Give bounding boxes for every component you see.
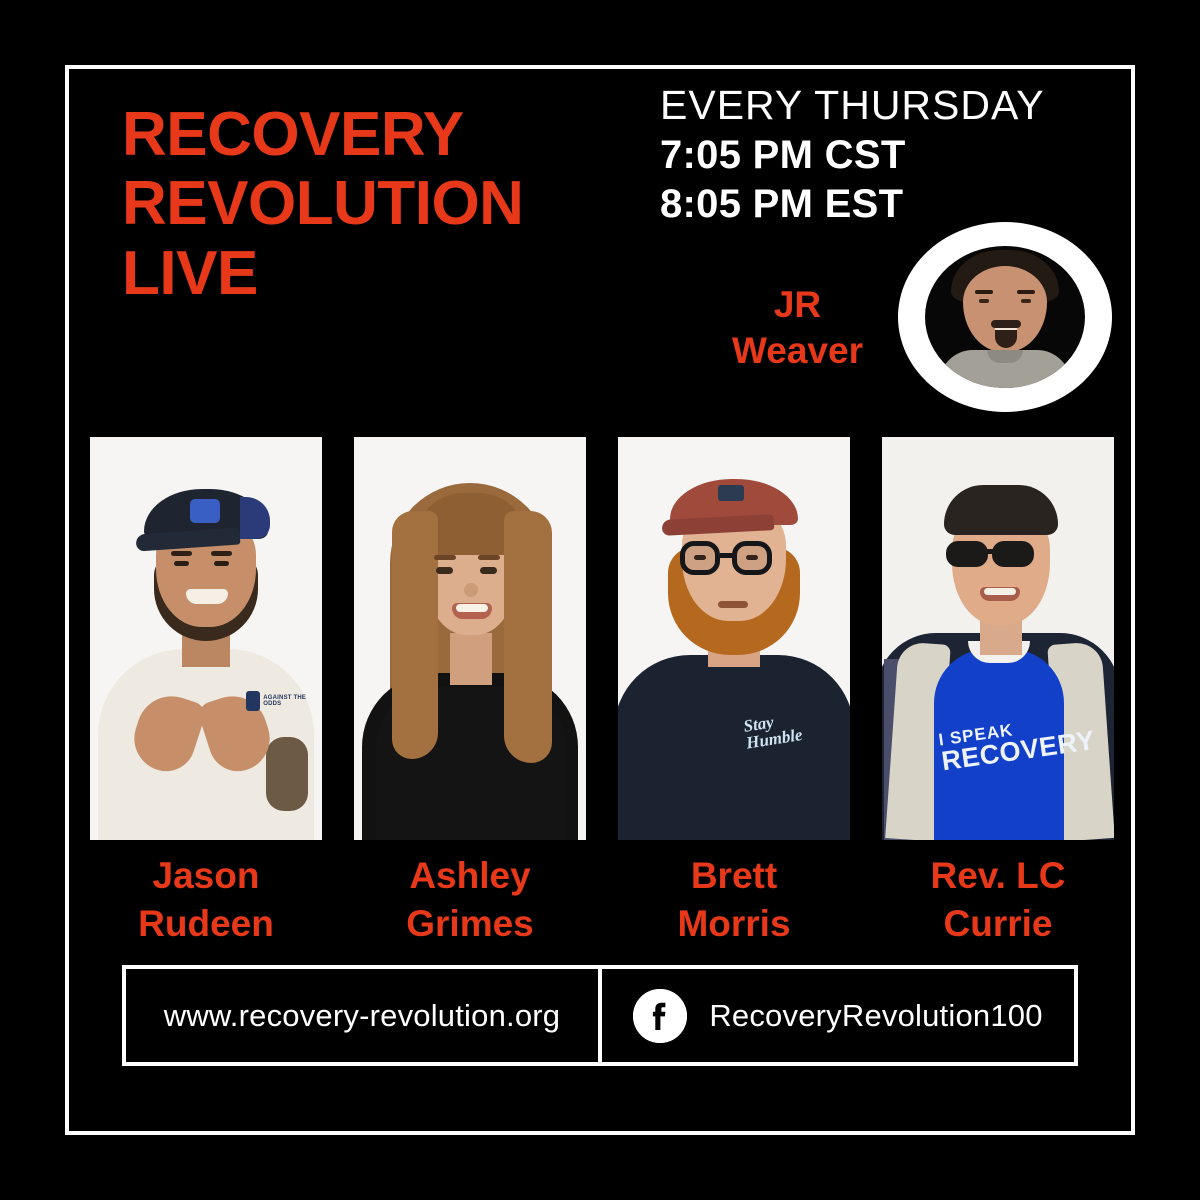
title-line-1: RECOVERY [122,100,682,169]
guest-first-name: Jason [90,852,322,900]
schedule-time-central: 7:05 PM CST [660,131,1080,180]
avatar [898,222,1112,412]
schedule-day: EVERY THURSDAY [660,80,1080,131]
guest-photo-brett: Stay Humble [618,437,850,840]
guest-photo-ashley [354,437,586,840]
footer-bar: www.recovery-revolution.org RecoveryRevo… [122,965,1078,1066]
guest-photo-strip: AGAINST THE ODDS [90,437,1114,840]
guest-name-brett: Brett Morris [618,852,850,948]
title-line-2: REVOLUTION [122,169,682,238]
guest-name-row: Jason Rudeen Ashley Grimes Brett Morris … [90,852,1114,948]
website-link[interactable]: www.recovery-revolution.org [126,969,598,1062]
guest-last-name: Currie [882,900,1114,948]
guest-last-name: Rudeen [90,900,322,948]
guest-name-lc-currie: Rev. LC Currie [882,852,1114,948]
guest-name-jason: Jason Rudeen [90,852,322,948]
page-title: RECOVERY REVOLUTION LIVE [122,100,682,308]
facebook-icon [633,989,687,1043]
guest-last-name: Morris [618,900,850,948]
guest-photo-jason: AGAINST THE ODDS [90,437,322,840]
facebook-link[interactable]: RecoveryRevolution100 [598,969,1074,1062]
guest-last-name: Grimes [354,900,586,948]
facebook-handle: RecoveryRevolution100 [709,998,1042,1034]
promo-poster: RECOVERY REVOLUTION LIVE EVERY THURSDAY … [0,0,1200,1200]
against-the-odds-logo: AGAINST THE ODDS [246,689,308,713]
host-first-name: JR [700,282,895,328]
guest-name-ashley: Ashley Grimes [354,852,586,948]
schedule-time-eastern: 8:05 PM EST [660,180,1080,229]
title-line-3: LIVE [122,239,682,308]
guest-first-name: Rev. LC [882,852,1114,900]
schedule-block: EVERY THURSDAY 7:05 PM CST 8:05 PM EST [660,80,1080,229]
host-name: JR Weaver [700,282,895,375]
guest-first-name: Ashley [354,852,586,900]
guest-photo-lc: I SPEAK RECOVERY [882,437,1114,840]
host-last-name: Weaver [700,328,895,374]
host-portrait-avatar [925,246,1085,388]
shirt-text: AGAINST THE ODDS [263,695,308,708]
guest-first-name: Brett [618,852,850,900]
